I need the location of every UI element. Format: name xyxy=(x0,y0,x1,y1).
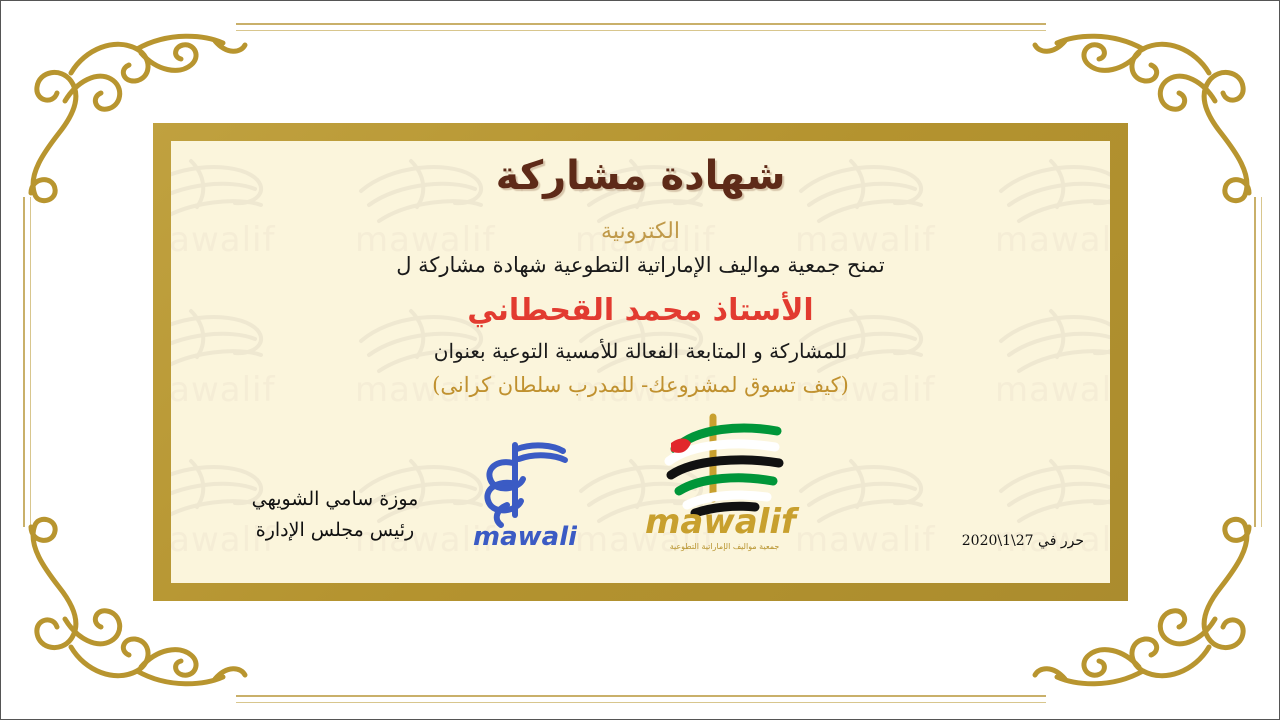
certificate-subtitle: الكترونية xyxy=(171,219,1110,244)
border-rule-top xyxy=(236,23,1046,31)
signature-block: موزة سامي الشويهي رئيس مجلس الإدارة xyxy=(205,488,465,541)
mawalif-logo-subtitle: جمعية مواليف الإماراتية التطوعية xyxy=(635,542,815,551)
certificate-paper: mawalif xyxy=(171,141,1110,583)
recipient-name: الأستاذ محمد القحطاني xyxy=(171,293,1110,328)
svg-text:mawalif: mawalif xyxy=(473,522,577,551)
certificate-title: شهادة مشاركة xyxy=(171,153,1110,199)
signatory-name: موزة سامي الشويهي xyxy=(205,488,465,510)
certificate-content: شهادة مشاركة الكترونية تمنح جمعية مواليف… xyxy=(171,141,1110,583)
signatory-role: رئيس مجلس الإدارة xyxy=(205,519,465,541)
mawalif-logo-gold-icon: mawalif جمعية مواليف الإماراتية التطوعية xyxy=(635,413,815,551)
certificate-frame: mawalif xyxy=(153,123,1128,601)
border-rule-right xyxy=(1254,197,1262,527)
granting-statement: تمنح جمعية مواليف الإماراتية التطوعية شه… xyxy=(171,253,1110,277)
mawalif-wordmark: mawalif xyxy=(645,502,800,541)
border-rule-bottom xyxy=(236,695,1046,703)
mawalif-logo-blue-icon: mawalif xyxy=(467,433,577,551)
participation-reason: للمشاركة و المتابعة الفعالة للأمسية التو… xyxy=(171,339,1110,363)
event-title: (كيف تسوق لمشروعك- للمدرب سلطان كرانى) xyxy=(171,373,1110,397)
issue-date: حرر في 27\1\2020 xyxy=(962,533,1084,549)
border-rule-left xyxy=(23,197,31,527)
certificate-page: mawalif xyxy=(0,0,1280,720)
